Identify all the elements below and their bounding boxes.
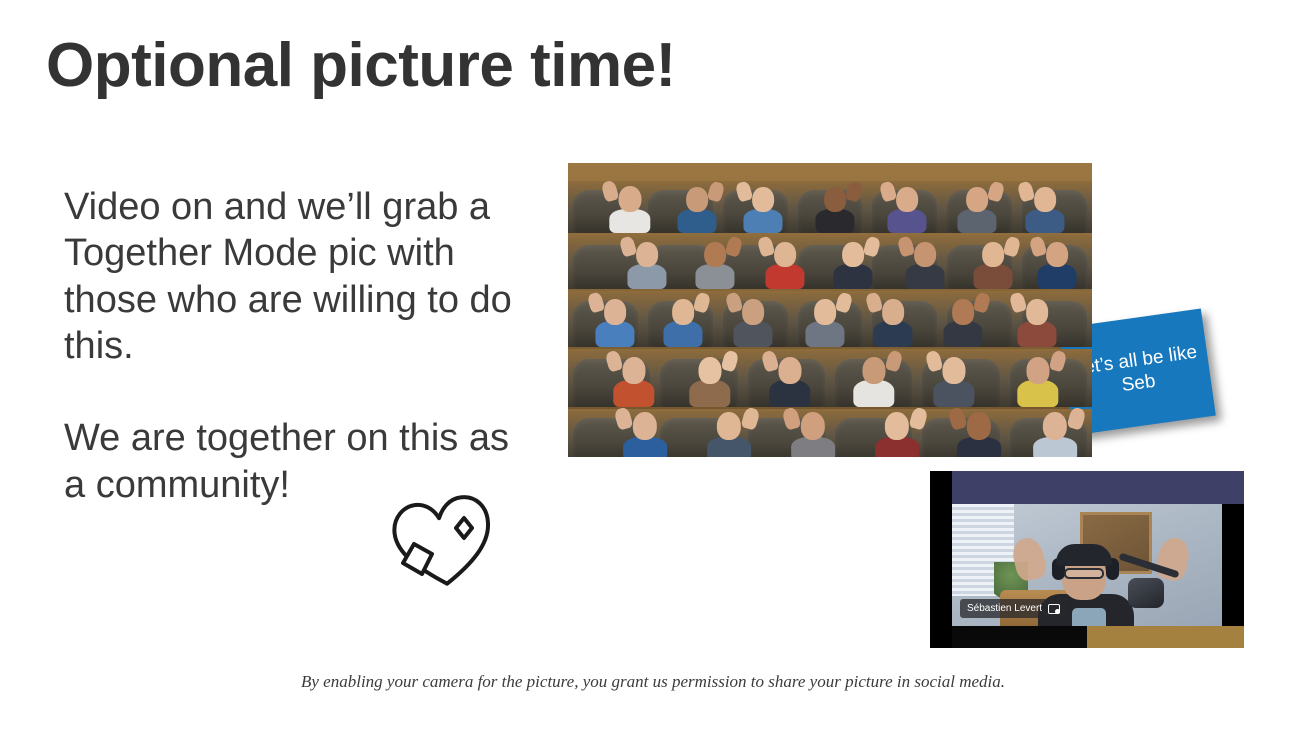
footer-disclaimer: By enabling your camera for the picture,… (0, 672, 1306, 692)
video-feed: Sébastien Levert (952, 504, 1222, 626)
cap-icon (1056, 544, 1112, 566)
participant-head (633, 412, 657, 440)
participant-head (717, 412, 741, 440)
participant-body (1017, 321, 1056, 347)
auditorium-row (568, 349, 1092, 407)
participant (746, 185, 780, 233)
shirt-graphic (1072, 608, 1106, 626)
participant (666, 295, 700, 347)
video-topbar (952, 471, 1244, 504)
participant-head (824, 187, 846, 212)
participant (808, 295, 842, 347)
participant-head (1026, 299, 1048, 324)
participant-body (853, 380, 894, 407)
participant (818, 185, 852, 233)
participant-head (982, 242, 1004, 267)
participant (960, 185, 994, 233)
raised-hand (1009, 292, 1027, 314)
participant-head (778, 357, 801, 384)
participant-head (1043, 412, 1067, 440)
participant-head (622, 357, 645, 384)
participant (1040, 239, 1074, 289)
participant (630, 239, 664, 289)
microphone-icon (1128, 578, 1164, 608)
participant-body (695, 264, 734, 289)
page-title: Optional picture time! (46, 32, 676, 100)
participant (626, 413, 664, 457)
participant-body (905, 264, 944, 289)
participant (710, 413, 748, 457)
participant-head (967, 412, 991, 440)
participant-head (885, 412, 909, 440)
participant-body (873, 321, 912, 347)
participant-head (1046, 242, 1068, 267)
auditorium-row (568, 235, 1092, 289)
participant-head (698, 357, 721, 384)
participant-head (882, 299, 904, 324)
body-text-block: Video on and we’ll grab a Together Mode … (64, 184, 534, 508)
participant (1020, 295, 1054, 347)
body-paragraph-1: Video on and we’ll grab a Together Mode … (64, 184, 534, 369)
participant-head (942, 357, 965, 384)
participant-body (677, 209, 716, 233)
participant-body (733, 321, 772, 347)
participant-head (636, 242, 658, 267)
participant-body (887, 209, 926, 233)
participant-head (704, 242, 726, 267)
participant-head (604, 299, 626, 324)
participant-head (774, 242, 796, 267)
participant (772, 354, 808, 407)
participant-body (1025, 209, 1064, 233)
raised-hand (1003, 235, 1021, 257)
participant-body (933, 380, 974, 407)
participant (878, 413, 916, 457)
participant-body (769, 380, 810, 407)
participant (768, 239, 802, 289)
participant-body (595, 321, 634, 347)
video-bottom-black-strip (952, 626, 1087, 648)
participant (736, 295, 770, 347)
participant (1020, 354, 1056, 407)
together-mode-photo (568, 163, 1092, 457)
participant-body (627, 264, 666, 289)
participant-head (914, 242, 936, 267)
participant-head (686, 187, 708, 212)
participant (692, 354, 728, 407)
participant (856, 354, 892, 407)
participant-head (966, 187, 988, 212)
auditorium-row (568, 181, 1092, 233)
participant-name-tag: Sébastien Levert (960, 599, 1067, 618)
participant (598, 295, 632, 347)
participant-body (833, 264, 872, 289)
auditorium-row (568, 409, 1092, 457)
participant (794, 413, 832, 457)
participant-body (957, 209, 996, 233)
participant (890, 185, 924, 233)
participant-head (752, 187, 774, 212)
participant-body (973, 264, 1012, 289)
screen-share-icon (1048, 604, 1060, 614)
raised-hand (707, 180, 725, 202)
participant (976, 239, 1010, 289)
participant (946, 295, 980, 347)
participant (960, 413, 998, 457)
participant-head (801, 412, 825, 440)
participant-head (1034, 187, 1056, 212)
participant-body (743, 209, 782, 233)
participant-head (952, 299, 974, 324)
participant (1036, 413, 1074, 457)
participant-head (814, 299, 836, 324)
participant-head (618, 186, 641, 213)
participant (612, 185, 648, 233)
participant (876, 295, 910, 347)
participant (908, 239, 942, 289)
participant-body (609, 209, 650, 233)
participant-name-label: Sébastien Levert (967, 603, 1042, 614)
video-thumbnail: Sébastien Levert (930, 471, 1244, 648)
participant (616, 354, 652, 407)
participant-head (742, 299, 764, 324)
participant-body (815, 209, 854, 233)
participant-body (805, 321, 844, 347)
glasses-icon (1064, 568, 1104, 579)
video-bottom-gold-strip (1087, 626, 1244, 648)
participant (836, 239, 870, 289)
participant-body (765, 264, 804, 289)
participant-head (672, 299, 694, 324)
participant-head (896, 187, 918, 212)
participant (1028, 185, 1062, 233)
raised-hand (1017, 180, 1035, 202)
participant-body (663, 321, 702, 347)
participant-body (613, 380, 654, 407)
raised-hand (865, 292, 883, 314)
sparkle-heart-icon (386, 492, 498, 592)
participant-head (862, 357, 885, 384)
auditorium-row (568, 291, 1092, 347)
participant (698, 239, 732, 289)
participant-body (1017, 380, 1058, 407)
participant (936, 354, 972, 407)
participant (680, 185, 714, 233)
participant-body (689, 380, 730, 407)
participant-body (943, 321, 982, 347)
participant-head (842, 242, 864, 267)
participant-body (1037, 264, 1076, 289)
participant-head (1026, 357, 1049, 384)
